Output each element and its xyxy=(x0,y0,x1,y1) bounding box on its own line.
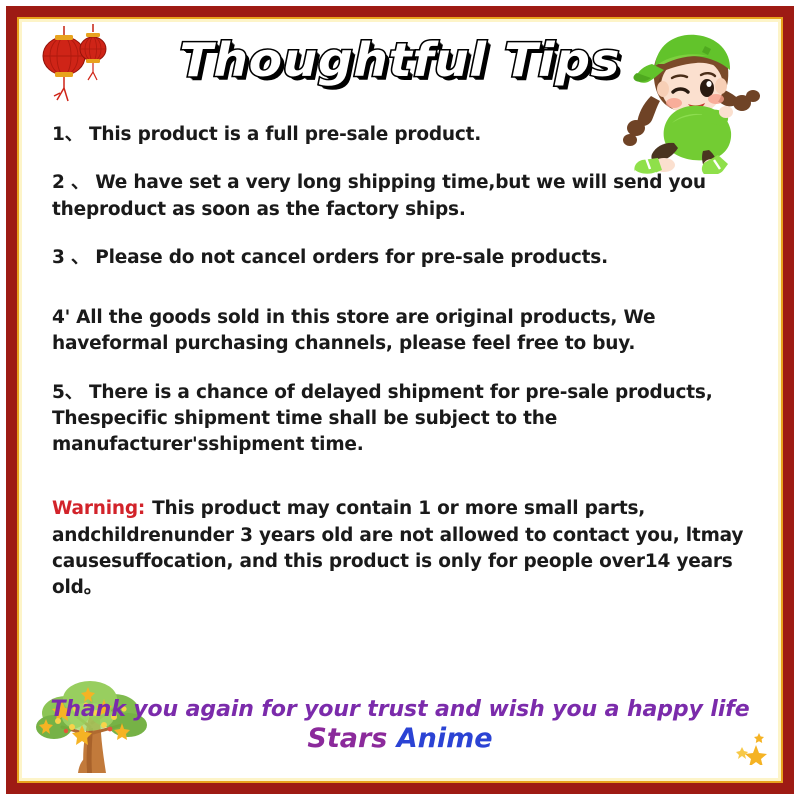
tips-list: 1、This product is a full pre-sale produc… xyxy=(52,122,762,623)
tip-item-3: 3 、Please do not cancel orders for pre-s… xyxy=(52,245,762,271)
thank-you-message: Thank you again for your trust and wish … xyxy=(22,696,778,724)
tip-text-1: This product is a full pre-sale product. xyxy=(89,124,481,145)
tip-item-1: 1、This product is a full pre-sale produc… xyxy=(52,122,762,148)
tip-item-4: 4'All the goods sold in this store are o… xyxy=(52,305,762,358)
tip-text-5: There is a chance of delayed shipment fo… xyxy=(52,382,713,456)
tip-number-4: 4' xyxy=(52,307,70,328)
brand-name-first: Stars xyxy=(307,723,396,754)
tip-number-1: 1、 xyxy=(52,124,83,145)
tip-text-4: All the goods sold in this store are ori… xyxy=(52,307,655,354)
poster-border-pale: Thoughtful Tips 1、This product is a full… xyxy=(19,19,781,781)
tip-item-5: 5、There is a chance of delayed shipment … xyxy=(52,380,762,459)
brand-name-second: Anime xyxy=(397,723,493,754)
tip-number-2: 2 、 xyxy=(52,172,89,193)
tips-poster: Thoughtful Tips 1、This product is a full… xyxy=(0,0,800,800)
tip-text-2: We have set a very long shipping time,bu… xyxy=(52,172,706,219)
warning-notice: Warning:This product may contain 1 or mo… xyxy=(52,496,762,601)
title-row: Thoughtful Tips xyxy=(22,30,778,98)
poster-border-gold: Thoughtful Tips 1、This product is a full… xyxy=(17,17,783,783)
tip-number-3: 3 、 xyxy=(52,247,89,268)
warning-text: This product may contain 1 or more small… xyxy=(52,498,743,598)
footer: Thank you again for your trust and wish … xyxy=(22,696,778,756)
tip-text-3: Please do not cancel orders for pre-sale… xyxy=(95,247,608,268)
brand-name: Stars Anime xyxy=(22,723,778,756)
poster-border-red: Thoughtful Tips 1、This product is a full… xyxy=(6,6,794,794)
warning-label: Warning: xyxy=(52,498,145,519)
tip-number-5: 5、 xyxy=(52,382,83,403)
tip-item-2: 2 、We have set a very long shipping time… xyxy=(52,170,762,223)
page-title: Thoughtful Tips xyxy=(180,30,621,90)
